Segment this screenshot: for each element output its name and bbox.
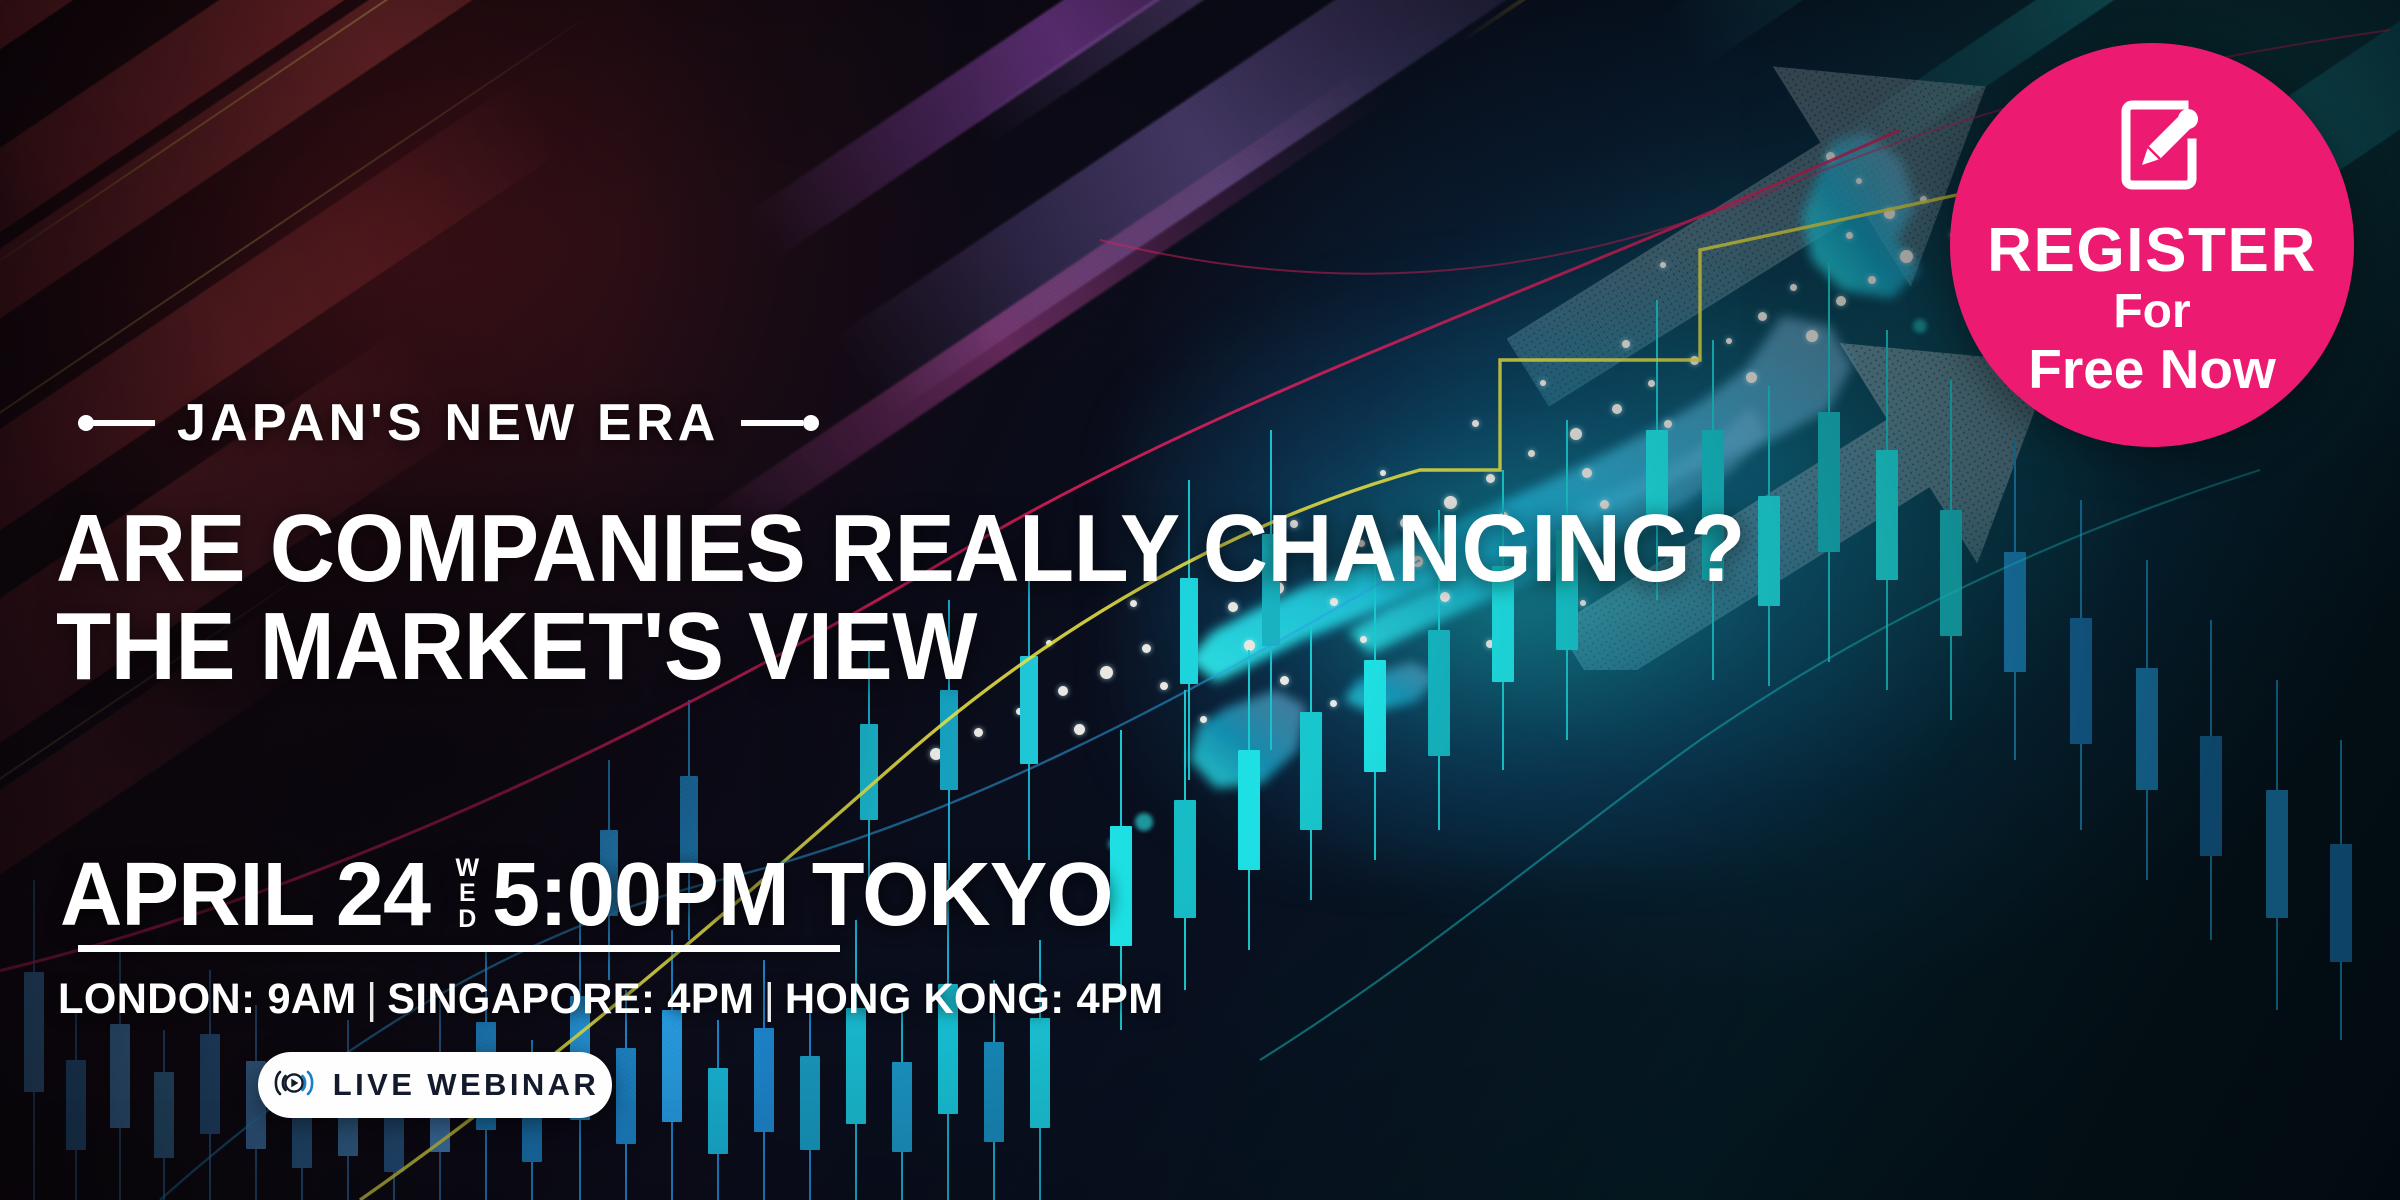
timezone-singapore-time: 4PM (667, 975, 754, 1023)
timezone-hongkong-city: HONG KONG (785, 975, 1050, 1023)
headline-line-2: THE MARKET'S VIEW (56, 603, 1522, 691)
live-webinar-badge[interactable]: LIVE WEBINAR (258, 1052, 612, 1118)
colon-1: : (241, 975, 267, 1023)
page-title: ARE COMPANIES REALLY CHANGING? THE MARKE… (56, 505, 1522, 692)
dot-line-rule-icon (78, 415, 155, 431)
timezone-line: LONDON: 9AM|SINGAPORE: 4PM|HONG KONG: 4P… (58, 975, 1163, 1024)
register-badge-line-1: REGISTER (1987, 220, 2317, 282)
live-webinar-label: LIVE WEBINAR (333, 1067, 599, 1103)
timezone-separator-1: | (357, 975, 388, 1023)
webinar-banner: JAPAN'S NEW ERA ARE COMPANIES REALLY CHA… (0, 0, 2400, 1200)
eyebrow-label: JAPAN'S NEW ERA (177, 393, 719, 453)
eyebrow: JAPAN'S NEW ERA (78, 393, 819, 453)
register-badge-line-3: Free Now (2028, 340, 2276, 399)
event-time-location: 5:00PM TOKYO (492, 850, 1113, 940)
timezone-singapore-city: SINGAPORE (387, 975, 641, 1023)
event-date: APRIL 24 (60, 850, 430, 940)
line-dot-rule-icon (741, 415, 819, 431)
timezone-hongkong-time: 4PM (1076, 975, 1163, 1023)
register-badge-line-2: For (2113, 286, 2190, 338)
weekday-letter-1: W (456, 856, 480, 882)
timezone-london-time: 9AM (267, 975, 356, 1023)
headline-line-1: ARE COMPANIES REALLY CHANGING? (56, 495, 1745, 602)
timezone-london-city: LONDON (58, 975, 241, 1023)
banner-content: JAPAN'S NEW ERA ARE COMPANIES REALLY CHA… (0, 0, 2400, 1200)
colon-3: : (1050, 975, 1076, 1023)
event-datetime: APRIL 24 W E D 5:00PM TOKYO (60, 850, 1138, 940)
event-weekday: W E D (456, 856, 480, 933)
colon-2: : (641, 975, 667, 1023)
pencil-edit-square-icon (2098, 91, 2206, 204)
register-badge[interactable]: REGISTER For Free Now (1950, 43, 2354, 447)
divider (78, 945, 840, 952)
timezone-separator-2: | (754, 975, 785, 1023)
weekday-letter-2: E (459, 881, 476, 907)
weekday-letter-3: D (458, 907, 477, 933)
live-broadcast-icon (271, 1068, 317, 1103)
